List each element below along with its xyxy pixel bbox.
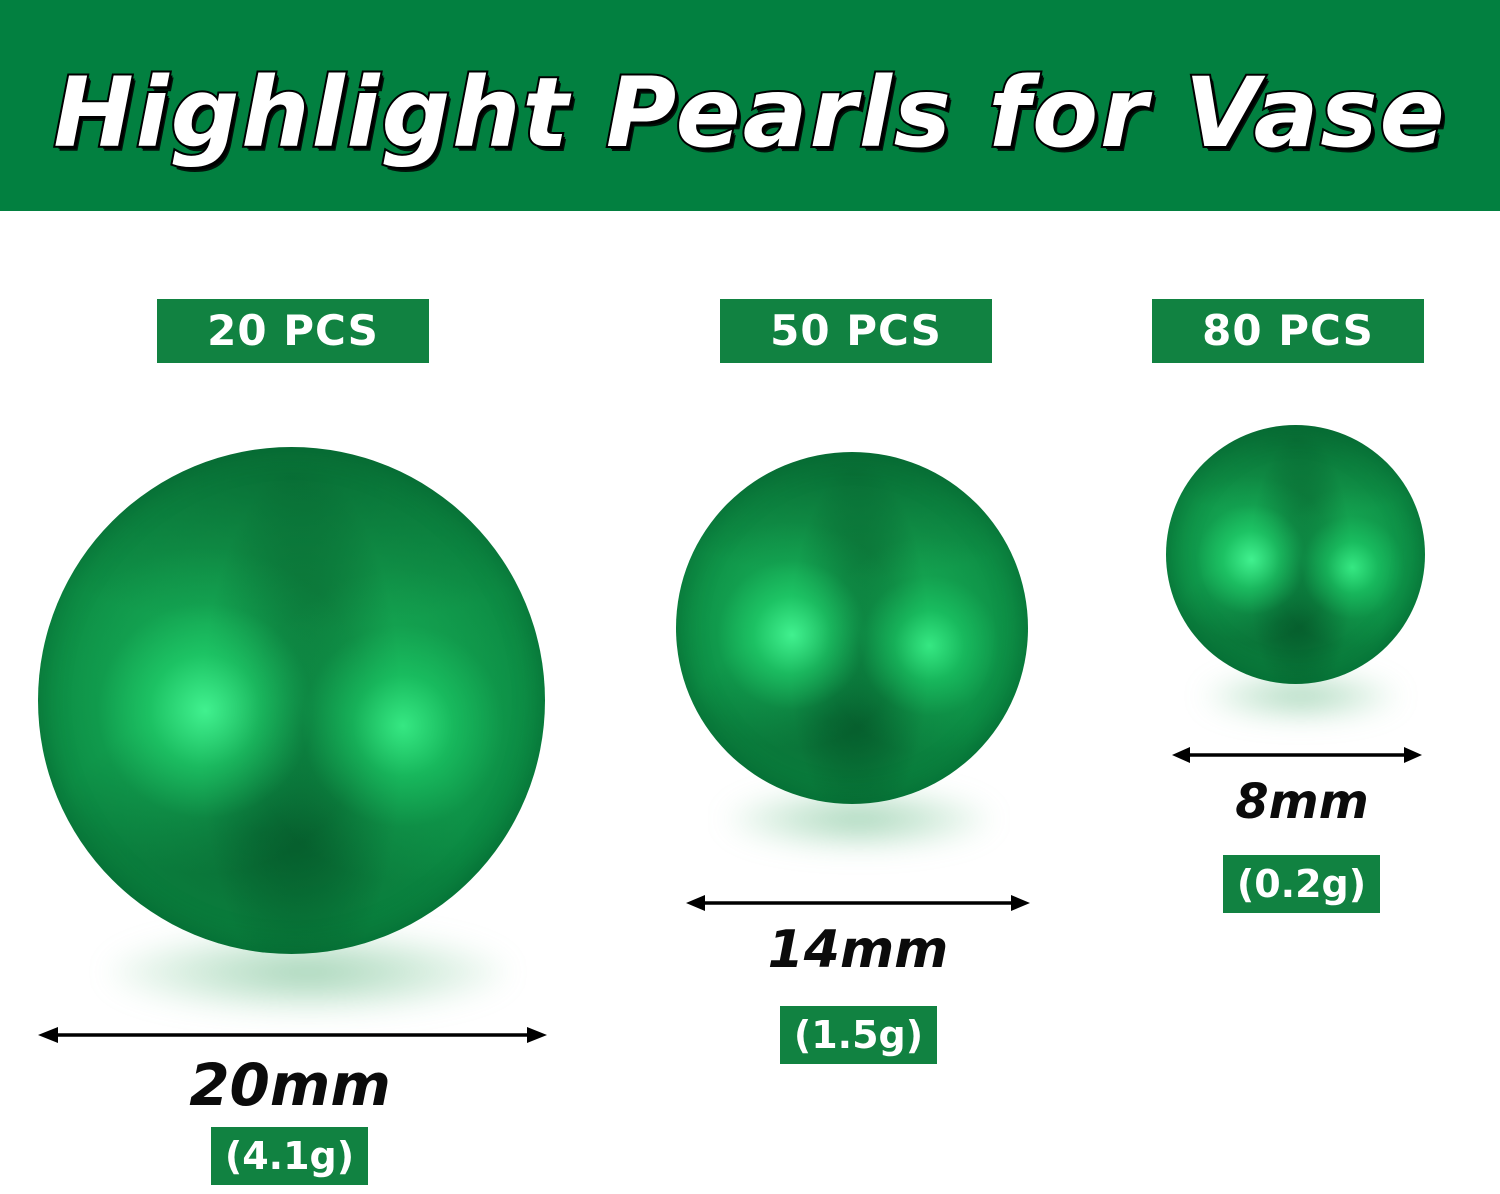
- size-label-8mm: 8mm: [1152, 778, 1452, 826]
- weight-badge-14mm: (1.5g): [780, 1006, 937, 1064]
- pearl-sphere-20mm: [38, 447, 545, 954]
- dimension-arrow-20mm: [38, 1022, 547, 1048]
- pcs-badge-8mm: 80 PCS: [1152, 299, 1424, 363]
- size-label-20mm: 20mm: [140, 1056, 440, 1114]
- pcs-badge-20mm: 20 PCS: [157, 299, 429, 363]
- dimension-arrow-14mm: [686, 890, 1030, 916]
- header-banner: Highlight Pearls for Vase: [0, 0, 1500, 211]
- pearl-image-14mm: [676, 452, 1028, 804]
- weight-badge-20mm: (4.1g): [211, 1127, 368, 1185]
- size-label-14mm: 14mm: [708, 924, 1008, 976]
- dimension-arrow-8mm: [1172, 742, 1422, 768]
- pcs-badge-14mm: 50 PCS: [720, 299, 992, 363]
- page-title: Highlight Pearls for Vase: [0, 58, 1500, 168]
- pearl-image-20mm: [38, 447, 545, 954]
- pearl-sphere-14mm: [676, 452, 1028, 804]
- weight-badge-8mm: (0.2g): [1223, 855, 1380, 913]
- pearl-sphere-8mm: [1166, 425, 1425, 684]
- pearl-image-8mm: [1166, 425, 1425, 684]
